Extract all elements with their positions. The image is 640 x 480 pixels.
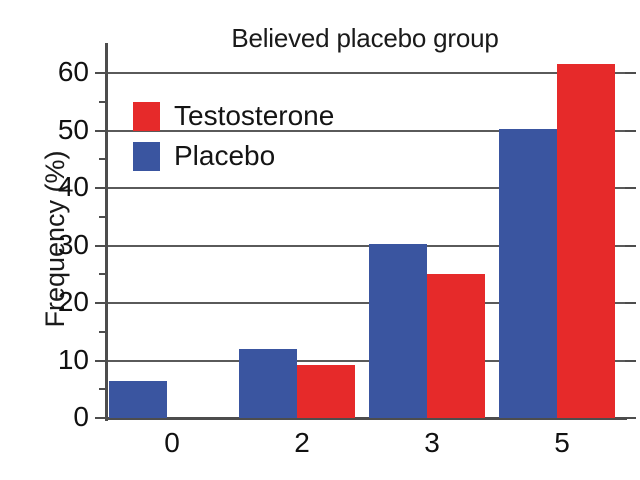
bar-placebo-0 [109, 381, 167, 418]
bar-placebo-2 [239, 349, 297, 418]
bar-testosterone-3 [427, 274, 485, 418]
y-axis-tick-label: 10 [0, 345, 89, 375]
legend-item-label: Placebo [174, 141, 275, 171]
bar-chart-figure: Believed placebo group Frequency (%) 010… [0, 0, 640, 480]
legend-item-placebo[interactable]: Placebo [133, 136, 334, 176]
bar-placebo-5 [499, 129, 557, 418]
legend-item-testosterone[interactable]: Testosterone [133, 96, 334, 136]
x-axis-tick-label: 3 [392, 428, 472, 458]
legend-item-label: Testosterone [174, 101, 334, 131]
y-axis-tick-label: 30 [0, 230, 89, 260]
y-axis-tick-label: 20 [0, 287, 89, 317]
y-axis-tick-label: 50 [0, 115, 89, 145]
bar-testosterone-5 [557, 64, 615, 418]
bar-placebo-3 [369, 244, 427, 418]
y-axis-tick-label: 0 [0, 402, 89, 432]
y-axis-tick-label: 60 [0, 57, 89, 87]
x-axis-tick-label: 2 [262, 428, 342, 458]
bar-testosterone-2 [297, 365, 355, 418]
x-axis-tick-label: 5 [522, 428, 602, 458]
blue-swatch-icon [133, 142, 160, 171]
x-axis-tick-label: 0 [132, 428, 212, 458]
red-swatch-icon [133, 102, 160, 131]
legend: Testosterone Placebo [133, 96, 334, 176]
y-axis-tick-label: 40 [0, 172, 89, 202]
